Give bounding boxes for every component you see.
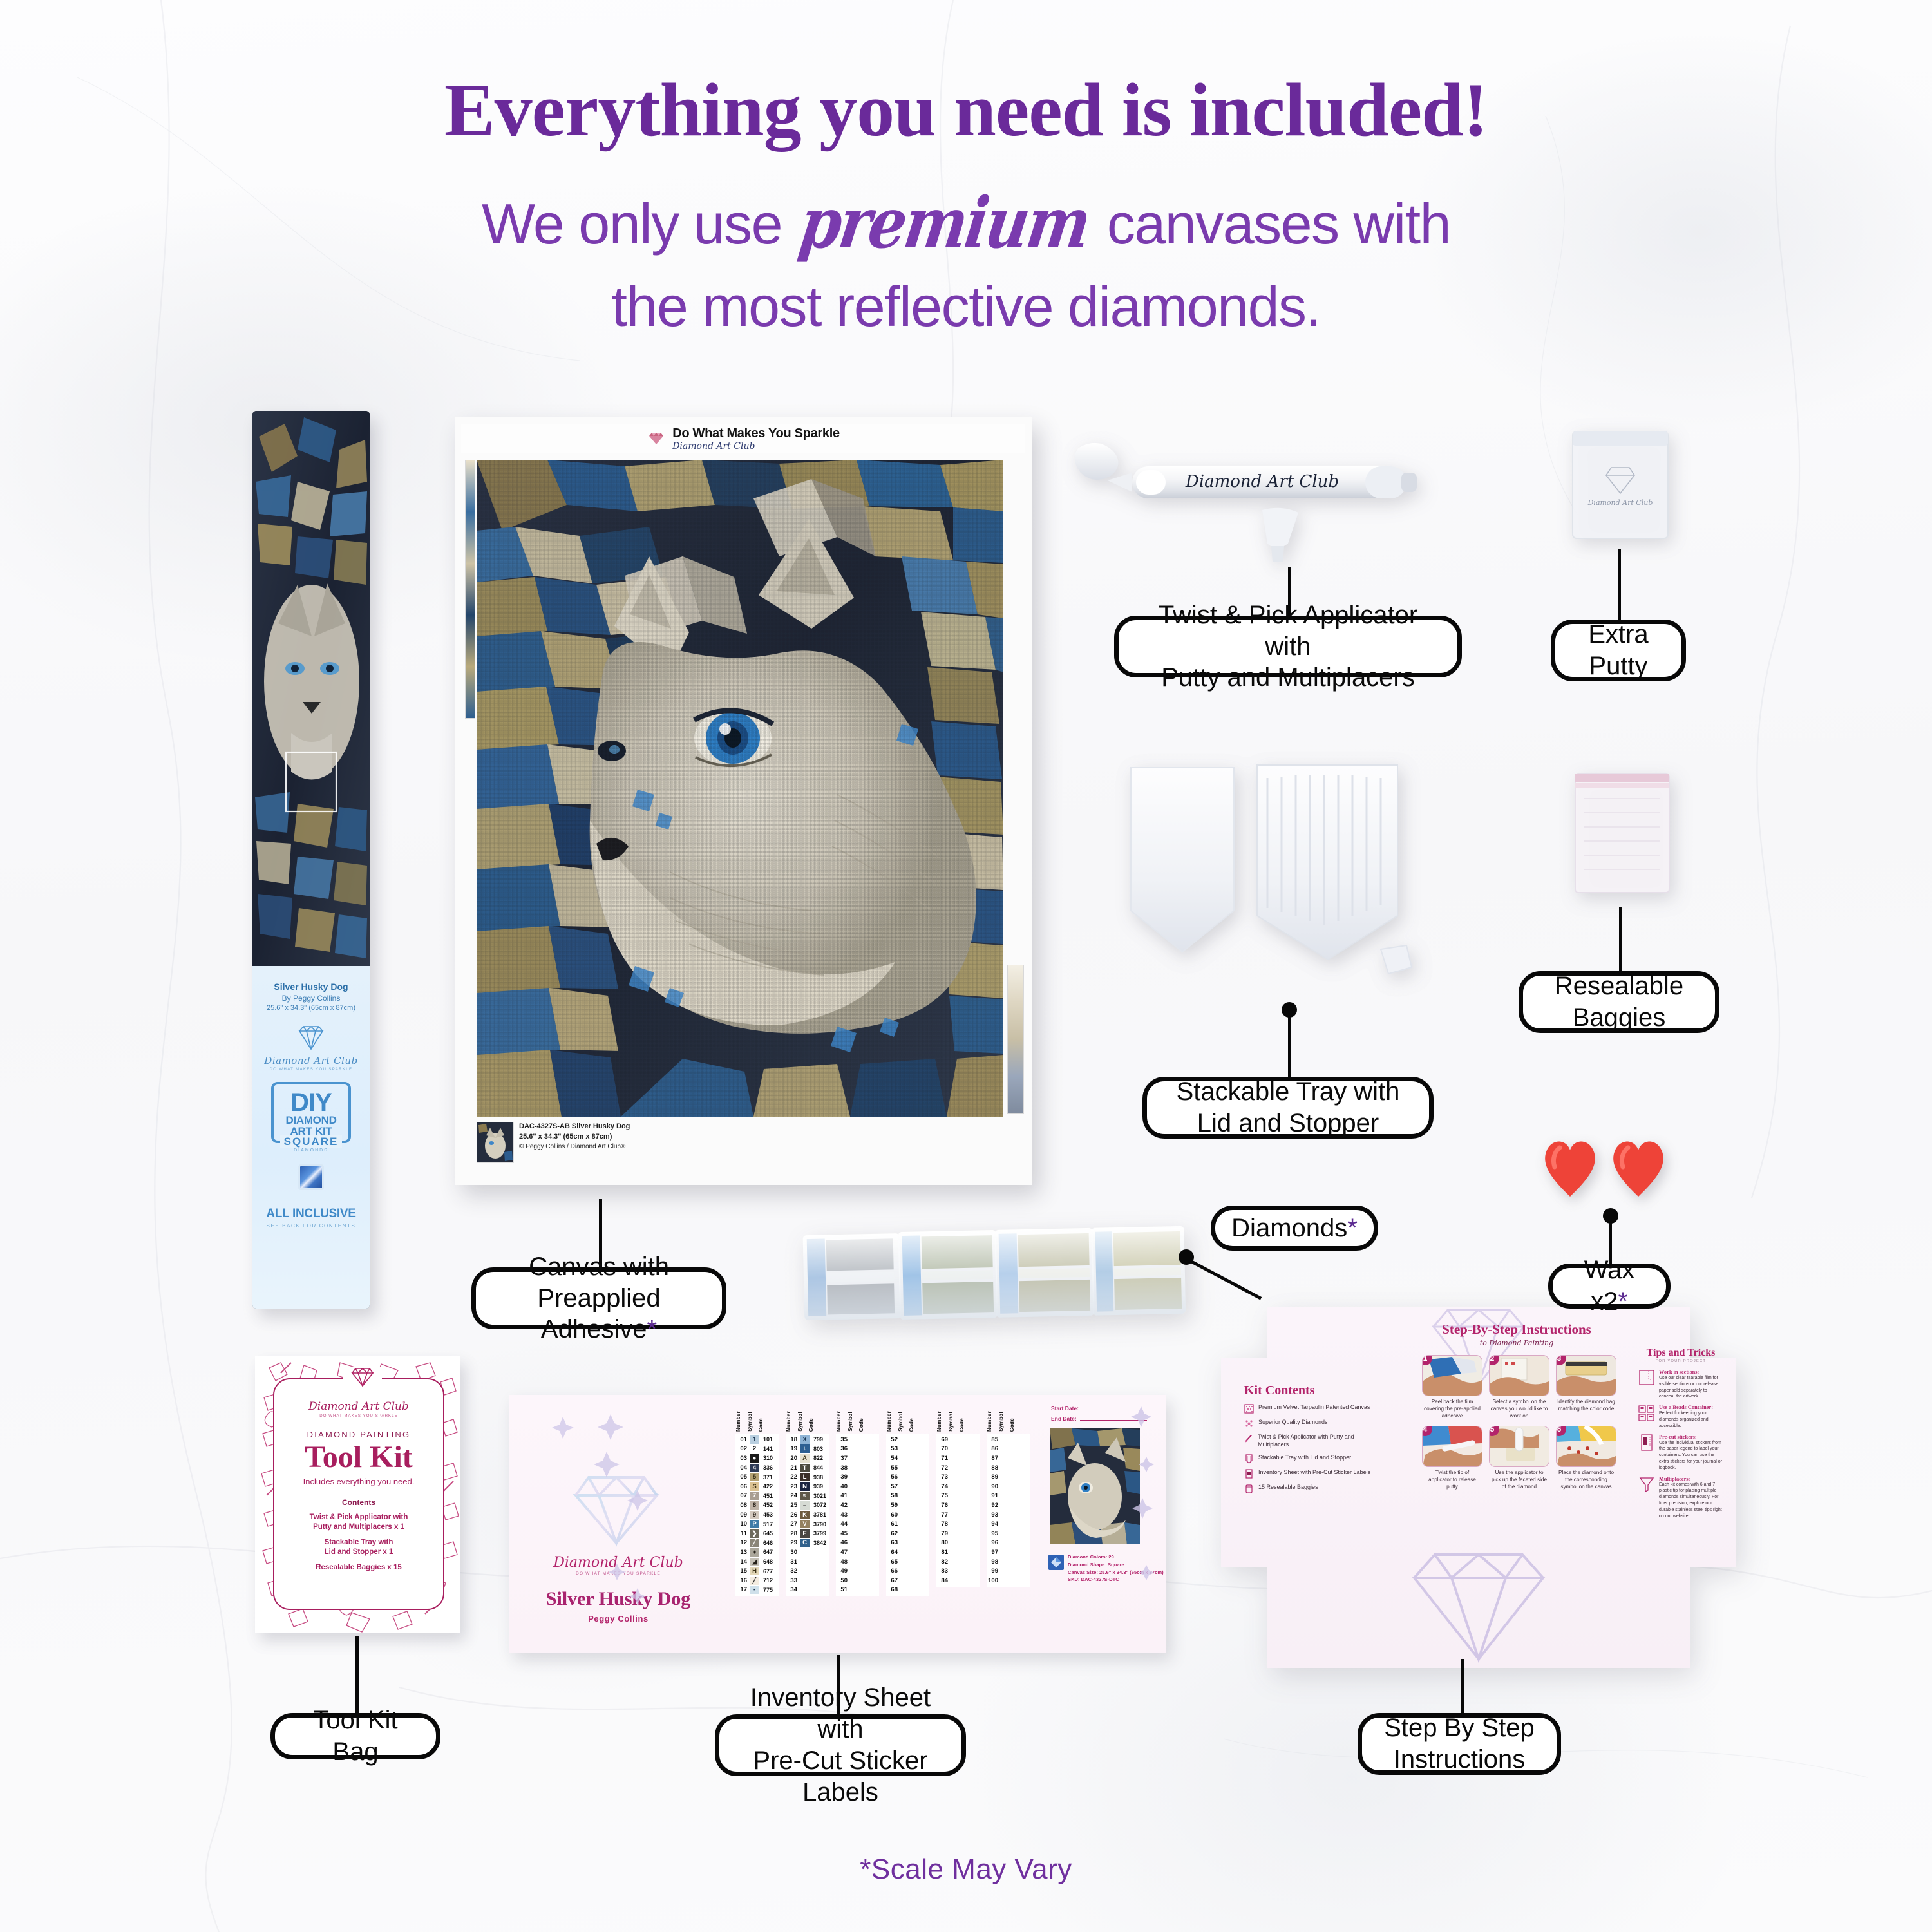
- color-number: 72: [936, 1463, 949, 1473]
- roll-title: Silver Husky Dog: [252, 981, 370, 992]
- svg-text:Diamond Art Club: Diamond Art Club: [1185, 472, 1339, 491]
- color-symbol: 5: [748, 1472, 761, 1482]
- step-caption: Identify the diamond bag matching the co…: [1556, 1399, 1616, 1413]
- col-head-symbol: Symbol: [747, 1412, 753, 1432]
- color-number: 67: [886, 1576, 899, 1586]
- color-number: 39: [836, 1472, 849, 1482]
- roll-artwork-svg: [252, 411, 370, 966]
- toolkit-tagline: Includes everything you need.: [274, 1477, 443, 1486]
- color-number: 77: [936, 1510, 949, 1520]
- color-symbol: [849, 1529, 861, 1539]
- color-symbol: [849, 1492, 861, 1501]
- color-code: 677: [761, 1566, 779, 1576]
- tip-item: Use a Beads Container: Perfect for keepi…: [1638, 1405, 1723, 1429]
- callout-line: Step By Step: [1384, 1714, 1534, 1742]
- color-symbol: 7: [748, 1492, 761, 1501]
- tip-body: Use the individual stickers from the pap…: [1659, 1440, 1723, 1472]
- diamond-bag-2: [898, 1230, 998, 1320]
- color-number: 14: [735, 1557, 748, 1567]
- color-chart-row: 41: [836, 1492, 879, 1501]
- color-code: [1012, 1539, 1030, 1548]
- color-chart-column: Number Symbol Code 01 1 101 02 2 141 03 …: [735, 1408, 779, 1596]
- instruction-step: 1 Peel back the film covering the pre-ap…: [1422, 1355, 1482, 1419]
- color-code: [1012, 1435, 1030, 1444]
- resealable-baggies: [1567, 764, 1677, 900]
- color-number: 97: [987, 1548, 999, 1557]
- color-chart-row: 73: [936, 1472, 980, 1482]
- color-number: 25: [786, 1501, 799, 1510]
- color-chart-row: 43: [836, 1510, 879, 1520]
- color-symbol: [949, 1548, 961, 1557]
- diamond-bag-1: [803, 1233, 902, 1320]
- color-number: 56: [886, 1472, 899, 1482]
- diamond-icon: [292, 1023, 330, 1052]
- instruction-step: 6 Place the diamond onto the correspondi…: [1556, 1426, 1616, 1490]
- color-chart-column: Number Symbol Code 69 70 71 72 73: [936, 1408, 980, 1587]
- stackable-tray-icon: [1257, 765, 1397, 960]
- callout-extra-putty[interactable]: ExtraPutty: [1551, 620, 1686, 681]
- color-symbol: X: [799, 1435, 811, 1444]
- color-number: 23: [786, 1482, 799, 1492]
- color-chart-row: 09 9 453: [735, 1510, 779, 1520]
- color-code: [961, 1519, 980, 1529]
- color-symbol: [849, 1557, 861, 1567]
- callout-line: Inventory Sheet with: [750, 1683, 931, 1743]
- instruction-steps-grid: 1 Peel back the film covering the pre-ap…: [1422, 1355, 1615, 1491]
- color-symbol: [899, 1586, 911, 1595]
- color-number: 96: [987, 1539, 999, 1548]
- step-caption: Twist the tip of applicator to release p…: [1422, 1470, 1482, 1490]
- husky-mosaic-artwork: [477, 460, 1003, 1117]
- color-symbol: [999, 1557, 1012, 1567]
- color-chart-row: 78: [936, 1519, 980, 1529]
- color-code: 939: [811, 1482, 829, 1492]
- callout-diamonds[interactable]: Diamonds*: [1211, 1206, 1378, 1251]
- color-symbol: [849, 1519, 861, 1529]
- color-code: [811, 1566, 829, 1576]
- color-chart-row: 08 8 452: [735, 1501, 779, 1510]
- color-number: 86: [987, 1444, 999, 1454]
- canvas-footer-copyright: © Peggy Collins / Diamond Art Club®: [519, 1142, 630, 1152]
- color-code: [961, 1548, 980, 1557]
- callout-twist-pick[interactable]: Twist & Pick Applicator withPutty and Mu…: [1114, 616, 1462, 677]
- col-head-symbol: Symbol: [898, 1412, 904, 1432]
- color-symbol: [849, 1463, 861, 1473]
- color-number: 27: [786, 1519, 799, 1529]
- color-code: 647: [761, 1548, 779, 1557]
- color-chart-row: 33: [786, 1576, 829, 1586]
- subtitle-line-1: We only use premium canvases with: [0, 193, 1932, 252]
- tip-body: Each kit comes with 6 and 7 plastic tip …: [1659, 1482, 1723, 1520]
- color-code: [1012, 1548, 1030, 1557]
- color-code: [1012, 1576, 1030, 1586]
- color-symbol: H: [748, 1566, 761, 1576]
- color-number: 28: [786, 1529, 799, 1539]
- color-symbol: 9: [748, 1510, 761, 1520]
- leader-line-tool-kit: [355, 1636, 359, 1716]
- color-symbol: [999, 1519, 1012, 1529]
- color-number: 63: [886, 1539, 899, 1548]
- diamond-painting-canvas: Do What Makes You Sparkle Diamond Art Cl…: [455, 417, 1032, 1185]
- multiplacer-tip-icon: [1262, 508, 1298, 562]
- color-number: 88: [987, 1463, 999, 1473]
- color-chart-row: 96: [987, 1539, 1030, 1548]
- color-code: 451: [761, 1492, 779, 1501]
- color-code: [911, 1566, 929, 1576]
- color-number: 81: [936, 1548, 949, 1557]
- diy-kit-badge: DIY DIAMOND ART KIT: [271, 1082, 351, 1143]
- color-number: 17: [735, 1586, 748, 1595]
- color-code: [961, 1463, 980, 1473]
- kit-content-item: Twist & Pick Applicator with Putty and M…: [1258, 1434, 1379, 1449]
- color-symbol: [999, 1492, 1012, 1501]
- color-number: 55: [886, 1463, 899, 1473]
- color-number: 51: [836, 1586, 849, 1595]
- color-code: [861, 1482, 879, 1492]
- color-number: 95: [987, 1529, 999, 1539]
- color-symbol: [849, 1454, 861, 1463]
- step-photo: [1490, 1426, 1549, 1466]
- tips-and-tricks-section: Tips and Tricks FOR YOUR PROJECT Work in…: [1638, 1347, 1723, 1524]
- all-inclusive-sub: SEE BACK FOR CONTENTS: [252, 1223, 370, 1229]
- color-symbol: [949, 1435, 961, 1444]
- color-code: [911, 1435, 929, 1444]
- tray-lid-icon: [1131, 768, 1234, 952]
- color-chart-row: 30: [786, 1548, 829, 1557]
- callout-step-by-step[interactable]: Step By StepInstructions: [1358, 1713, 1561, 1775]
- color-chart-row: 69: [936, 1435, 980, 1444]
- col-head-code: Code: [909, 1418, 914, 1432]
- color-code: [1012, 1529, 1030, 1539]
- color-number: 54: [886, 1454, 899, 1463]
- color-chart-row: 26 K 3781: [786, 1510, 829, 1520]
- color-symbol: [849, 1548, 861, 1557]
- color-chart-row: 87: [987, 1454, 1030, 1463]
- kit-content-item: 15 Resealable Baggies: [1258, 1484, 1318, 1492]
- color-chart-row: 66: [886, 1566, 929, 1576]
- color-chart-row: 32: [786, 1566, 829, 1576]
- color-code: [861, 1510, 879, 1520]
- color-code: [861, 1492, 879, 1501]
- step-caption: Select a symbol on the canvas you would …: [1489, 1399, 1549, 1419]
- callout-wax[interactable]: Wax x2*: [1548, 1264, 1671, 1309]
- color-chart-row: 81: [936, 1548, 980, 1557]
- color-chart-row: 56: [886, 1472, 929, 1482]
- callout-line: Tool Kit Bag: [313, 1706, 397, 1766]
- col-head-symbol: Symbol: [948, 1412, 954, 1432]
- color-number: 92: [987, 1501, 999, 1510]
- color-code: [1012, 1472, 1030, 1482]
- tray-icon: [1244, 1454, 1254, 1464]
- toolkit-diamond-icon: [343, 1367, 382, 1387]
- subtitle-script-premium: premium: [791, 188, 1097, 258]
- color-symbol: [899, 1492, 911, 1501]
- color-chart-row: 92: [987, 1501, 1030, 1510]
- color-code: [861, 1557, 879, 1567]
- applicator-icon: [1244, 1434, 1253, 1443]
- color-symbol: S: [748, 1482, 761, 1492]
- color-number: 52: [886, 1435, 899, 1444]
- toolkit-content-item: Putty and Multiplacers x 1: [274, 1522, 443, 1532]
- color-symbol: [999, 1510, 1012, 1520]
- color-code: [961, 1510, 980, 1520]
- color-chart-row: 70: [936, 1444, 980, 1454]
- color-symbol: [799, 1557, 811, 1567]
- color-symbol: [949, 1529, 961, 1539]
- tip-title: Pre-cut stickers:: [1659, 1434, 1723, 1440]
- color-chart-row: 45: [836, 1529, 879, 1539]
- color-chart-row: 10 P 517: [735, 1519, 779, 1529]
- color-chart-row: 48: [836, 1557, 879, 1567]
- color-code: [1012, 1482, 1030, 1492]
- color-code: [1012, 1463, 1030, 1473]
- toolkit-brand-tagline: DO WHAT MAKES YOU SPARKLE: [274, 1414, 443, 1418]
- color-number: 83: [936, 1566, 949, 1576]
- color-code: [911, 1472, 929, 1482]
- color-symbol: [999, 1501, 1012, 1510]
- instruction-step: 5 Use the applicator to pick up the face…: [1489, 1426, 1549, 1490]
- color-chart-row: 03 ● 310: [735, 1454, 779, 1463]
- toolkit-label-panel: Diamond Art Club DO WHAT MAKES YOU SPARK…: [273, 1378, 444, 1610]
- col-head-symbol: Symbol: [797, 1412, 803, 1432]
- color-number: 70: [936, 1444, 949, 1454]
- color-number: 68: [886, 1586, 899, 1595]
- color-code: [911, 1576, 929, 1586]
- color-number: 76: [936, 1501, 949, 1510]
- color-code: [961, 1492, 980, 1501]
- color-code: [961, 1566, 980, 1576]
- color-code: [861, 1548, 879, 1557]
- color-symbol: [999, 1539, 1012, 1548]
- color-symbol: 1: [748, 1435, 761, 1444]
- callout-line: Lid and Stopper: [1197, 1109, 1379, 1137]
- roll-brand-tagline: DO WHAT MAKES YOU SPARKLE: [252, 1068, 370, 1072]
- color-number: 82: [936, 1557, 949, 1567]
- color-code: [811, 1557, 829, 1567]
- canvas-roll-product: Silver Husky Dog By Peggy Collins 25.6" …: [252, 411, 370, 1309]
- color-chart-row: 35: [836, 1435, 879, 1444]
- color-symbol: [999, 1463, 1012, 1473]
- color-code: [961, 1482, 980, 1492]
- color-symbol: [849, 1510, 861, 1520]
- color-code: [911, 1454, 929, 1463]
- color-chart-row: 31: [786, 1557, 829, 1567]
- color-chart-row: 71: [936, 1454, 980, 1463]
- color-chart-row: 23 N 939: [786, 1482, 829, 1492]
- diamond-bag-3: [994, 1228, 1094, 1318]
- tip-item: Work in sections: Use our clear tearable…: [1638, 1369, 1723, 1400]
- color-chart-row: 74: [936, 1482, 980, 1492]
- color-symbol: [949, 1472, 961, 1482]
- col-head-number: Number: [936, 1411, 942, 1432]
- instruction-step: 4 Twist the tip of applicator to release…: [1422, 1426, 1482, 1490]
- instructions-subtitle: to Diamond Painting: [1414, 1339, 1619, 1347]
- color-number: 73: [936, 1472, 949, 1482]
- color-chart-row: 52: [886, 1435, 929, 1444]
- color-code: [911, 1444, 929, 1454]
- callout-canvas[interactable]: Canvas withPreapplied Adhesive*: [471, 1267, 726, 1329]
- color-code: [911, 1586, 929, 1595]
- color-chart-row: 02 2 141: [735, 1444, 779, 1454]
- color-chart-row: 46: [836, 1539, 879, 1548]
- color-chart-row: 42: [836, 1501, 879, 1510]
- color-code: [961, 1576, 980, 1586]
- step-by-step-instruction-sheet: Kit Contents Premium Velvet Tarpaulin Pa…: [1221, 1307, 1736, 1668]
- color-chart-row: 83: [936, 1566, 980, 1576]
- color-code: [961, 1529, 980, 1539]
- color-number: 01: [735, 1435, 748, 1444]
- toolkit-contents-heading: Contents: [274, 1498, 443, 1507]
- color-code: [861, 1463, 879, 1473]
- color-code: [861, 1454, 879, 1463]
- color-symbol: [949, 1519, 961, 1529]
- kit-contents-heading: Kit Contents: [1244, 1383, 1379, 1398]
- color-number: 100: [987, 1576, 999, 1586]
- color-code: [911, 1510, 929, 1520]
- toolkit-content-item: Stackable Tray with: [274, 1538, 443, 1548]
- color-code: [1012, 1492, 1030, 1501]
- kit-contents-section: Kit Contents Premium Velvet Tarpaulin Pa…: [1244, 1383, 1379, 1493]
- color-number: 48: [836, 1557, 849, 1567]
- color-chart-row: 61: [886, 1519, 929, 1529]
- tip-body: Use our clear tearable film for visible …: [1659, 1375, 1723, 1400]
- color-code: [911, 1539, 929, 1548]
- color-number: 60: [886, 1510, 899, 1520]
- col-head-symbol: Symbol: [848, 1412, 853, 1432]
- color-symbol: ↓: [799, 1444, 811, 1454]
- col-head-code: Code: [959, 1418, 965, 1432]
- color-code: 3790: [811, 1519, 829, 1529]
- color-chart-row: 16 ╱ 712: [735, 1576, 779, 1586]
- color-symbol: [949, 1510, 961, 1520]
- canvas-footer-size: 25.6" x 34.3" (65cm x 87cm): [519, 1132, 630, 1142]
- callout-inventory-sheet[interactable]: Inventory Sheet withPre-Cut Sticker Labe…: [715, 1714, 966, 1776]
- leader-dot-diamonds: [1179, 1249, 1194, 1265]
- color-chart-row: 15 H 677: [735, 1566, 779, 1576]
- roll-product-label: Silver Husky Dog By Peggy Collins 25.6" …: [252, 966, 370, 1309]
- color-number: 06: [735, 1482, 748, 1492]
- color-chart-row: 50: [836, 1576, 879, 1586]
- callout-stackable-tray[interactable]: Stackable Tray withLid and Stopper: [1142, 1077, 1434, 1139]
- color-code: [861, 1566, 879, 1576]
- color-symbol: =: [799, 1501, 811, 1510]
- color-symbol: ❯: [748, 1529, 761, 1539]
- color-symbol: [849, 1501, 861, 1510]
- color-code: 3781: [811, 1510, 829, 1520]
- color-symbol: [899, 1539, 911, 1548]
- color-code: [861, 1529, 879, 1539]
- applicator-pen-icon: Diamond Art Club: [1108, 466, 1417, 498]
- color-chart-row: 65: [886, 1557, 929, 1567]
- callout-line: Preapplied Adhesive*: [537, 1284, 660, 1344]
- color-number: 71: [936, 1454, 949, 1463]
- color-symbol: [949, 1501, 961, 1510]
- color-number: 79: [936, 1529, 949, 1539]
- color-number: 89: [987, 1472, 999, 1482]
- callout-line: Stackable Tray with: [1177, 1077, 1400, 1106]
- color-symbol: [949, 1566, 961, 1576]
- color-code: [861, 1501, 879, 1510]
- color-symbol: [949, 1463, 961, 1473]
- color-code: [911, 1482, 929, 1492]
- color-chart-row: 51: [836, 1586, 879, 1595]
- color-symbol: [899, 1519, 911, 1529]
- color-symbol: [999, 1576, 1012, 1586]
- step-photo: [1490, 1356, 1549, 1396]
- color-chart-column: Number Symbol Code 18 X 799 19 ↓ 803 20 …: [786, 1408, 829, 1596]
- tool-kit-bag: Diamond Art Club DO WHAT MAKES YOU SPARK…: [255, 1356, 460, 1633]
- wax-heart-icon-1: [1540, 1137, 1600, 1199]
- color-symbol: [849, 1576, 861, 1586]
- step-photo: [1557, 1356, 1616, 1396]
- color-code: [911, 1501, 929, 1510]
- color-code: 822: [811, 1454, 829, 1463]
- color-symbol: [849, 1566, 861, 1576]
- color-code: [1012, 1557, 1030, 1567]
- color-symbol: [949, 1454, 961, 1463]
- color-number: 45: [836, 1529, 849, 1539]
- color-code: 3021: [811, 1492, 829, 1501]
- svg-text:Diamond Art Club: Diamond Art Club: [1587, 498, 1653, 507]
- canvas-header-brand: Do What Makes You Sparkle Diamond Art Cl…: [461, 424, 1025, 453]
- color-code: 938: [811, 1472, 829, 1482]
- callout-tool-kit-bag[interactable]: Tool Kit Bag: [270, 1713, 440, 1759]
- color-number: 32: [786, 1566, 799, 1576]
- color-number: 22: [786, 1472, 799, 1482]
- color-chart-row: 37: [836, 1454, 879, 1463]
- color-number: 91: [987, 1492, 999, 1501]
- color-code: [911, 1548, 929, 1557]
- color-number: 29: [786, 1539, 799, 1548]
- color-symbol: K: [799, 1510, 811, 1520]
- kit-content-item: Premium Velvet Tarpaulin Patented Canvas: [1258, 1404, 1370, 1412]
- instructions-heading-block: Step-By-Step Instructions to Diamond Pai…: [1414, 1321, 1619, 1347]
- callout-resealable-baggies[interactable]: ResealableBaggies: [1519, 971, 1719, 1033]
- col-head-code: Code: [758, 1418, 764, 1432]
- tip-item: Multiplacers: Each kit comes with 6 and …: [1638, 1476, 1723, 1520]
- color-code: 422: [761, 1482, 779, 1492]
- color-number: 61: [886, 1519, 899, 1529]
- color-code: [861, 1586, 879, 1595]
- color-chart-row: 88: [987, 1463, 1030, 1473]
- callout-line: Putty and Multiplacers: [1161, 663, 1415, 692]
- color-symbol: E: [799, 1529, 811, 1539]
- color-number: 59: [886, 1501, 899, 1510]
- color-code: [811, 1548, 829, 1557]
- tip-item: Pre-cut stickers: Use the individual sti…: [1638, 1434, 1723, 1472]
- color-symbol: [849, 1444, 861, 1454]
- canvas-legend-left: [465, 460, 475, 719]
- color-chart-row: 72: [936, 1463, 980, 1473]
- color-code: 844: [811, 1463, 829, 1473]
- color-number: 04: [735, 1463, 748, 1473]
- color-number: 07: [735, 1492, 748, 1501]
- color-chart-row: 75: [936, 1492, 980, 1501]
- leader-dot-wax: [1603, 1208, 1618, 1224]
- tip-title: Work in sections:: [1659, 1369, 1723, 1375]
- diamond-logo-icon: [647, 431, 666, 446]
- color-number: 69: [936, 1435, 949, 1444]
- color-number: 53: [886, 1444, 899, 1454]
- color-chart-row: 34: [786, 1586, 829, 1595]
- color-number: 66: [886, 1566, 899, 1576]
- color-code: [1012, 1566, 1030, 1576]
- color-chart-row: 19 ↓ 803: [786, 1444, 829, 1454]
- color-number: 41: [836, 1492, 849, 1501]
- color-chart-row: 11 ❯ 645: [735, 1529, 779, 1539]
- callout-line: Putty: [1589, 652, 1647, 680]
- color-number: 87: [987, 1454, 999, 1463]
